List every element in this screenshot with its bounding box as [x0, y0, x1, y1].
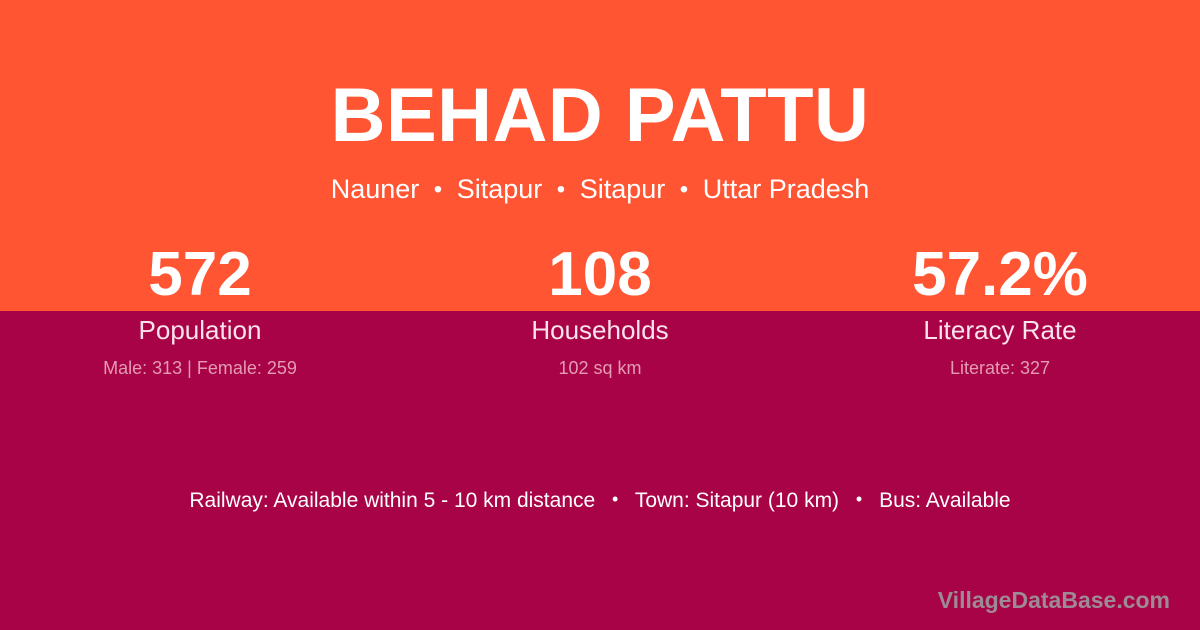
stat-label: Households — [400, 317, 800, 343]
stat-population: 572 Population Male: 313 | Female: 259 — [0, 244, 400, 377]
location-breadcrumb: Nauner • Sitapur • Sitapur • Uttar Prade… — [0, 154, 1200, 203]
stat-value: 572 — [0, 244, 400, 306]
info-railway: Railway: Available within 5 - 10 km dist… — [189, 489, 595, 512]
stat-sublabel: 102 sq km — [400, 359, 800, 377]
village-info-card: BEHAD PATTU Nauner • Sitapur • Sitapur •… — [0, 0, 1200, 630]
stat-sublabel: Literate: 327 — [800, 359, 1200, 377]
bullet-separator-icon: • — [427, 176, 449, 203]
amenities-info-line: Railway: Available within 5 - 10 km dist… — [0, 485, 1200, 515]
stat-value: 108 — [400, 244, 800, 306]
stat-households: 108 Households 102 sq km — [400, 244, 800, 377]
location-part-district: Sitapur — [580, 174, 666, 204]
site-watermark: VillageDataBase.com — [938, 587, 1170, 613]
bullet-separator-icon: • — [845, 489, 873, 509]
bullet-separator-icon: • — [601, 489, 629, 509]
village-title: BEHAD PATTU — [0, 0, 1200, 154]
location-part-block: Nauner — [331, 174, 420, 204]
bullet-separator-icon: • — [673, 176, 695, 203]
stat-literacy-rate: 57.2% Literacy Rate Literate: 327 — [800, 244, 1200, 377]
info-bus: Bus: Available — [879, 489, 1011, 512]
location-part-subdistrict: Sitapur — [457, 174, 543, 204]
stat-label: Population — [0, 317, 400, 343]
stat-sublabel: Male: 313 | Female: 259 — [0, 359, 400, 377]
stats-row: 572 Population Male: 313 | Female: 259 1… — [0, 244, 1200, 377]
card-header: BEHAD PATTU Nauner • Sitapur • Sitapur •… — [0, 0, 1200, 203]
info-town: Town: Sitapur (10 km) — [635, 489, 839, 512]
stat-label: Literacy Rate — [800, 317, 1200, 343]
bullet-separator-icon: • — [550, 176, 572, 203]
location-part-state: Uttar Pradesh — [703, 174, 870, 204]
stat-value: 57.2% — [800, 244, 1200, 306]
